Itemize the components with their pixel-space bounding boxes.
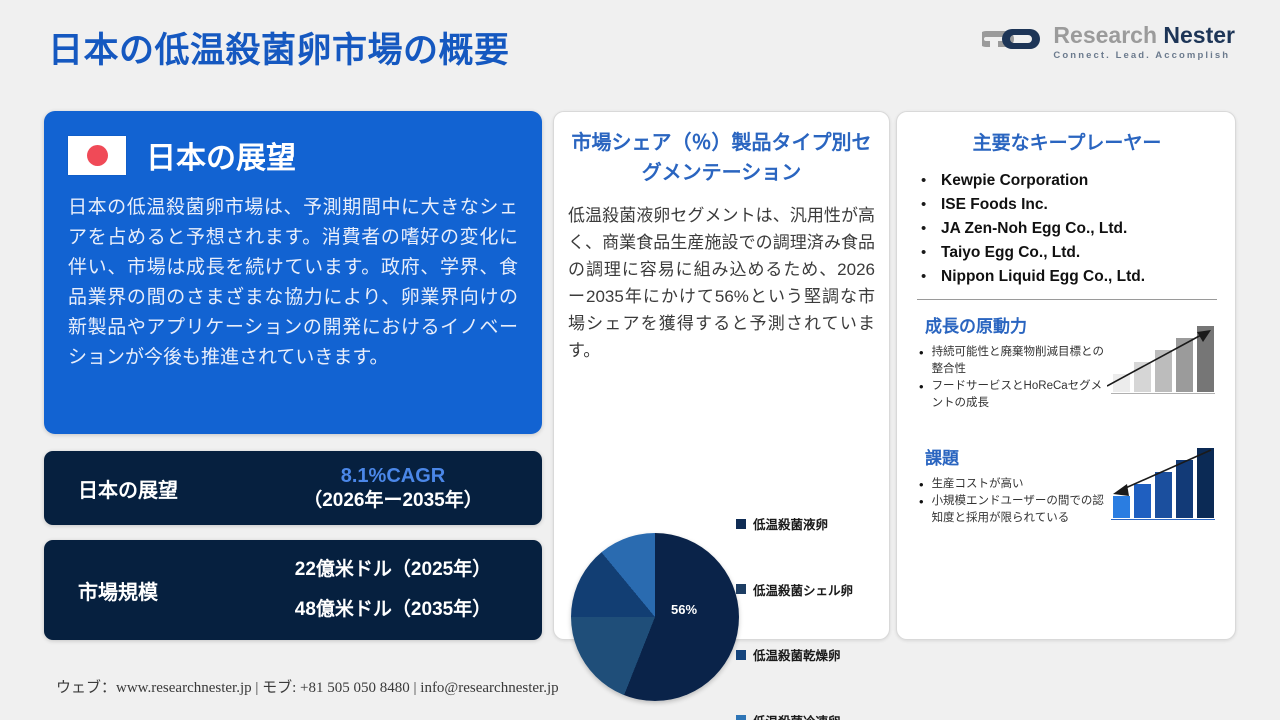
flag-sun-shape: [87, 145, 108, 166]
stat-box-outlook: 日本の展望 8.1%CAGR （2026年ー2035年）: [44, 451, 542, 525]
bullet-icon: •: [919, 476, 924, 493]
logo-tagline: Connect. Lead. Accomplish: [1053, 51, 1235, 61]
stat-values-market-size: 22億米ドル（2025年） 48億米ドル（2035年）: [244, 550, 542, 630]
challenges-bar-chart: [1107, 446, 1219, 526]
pie-data-label-0: 56%: [671, 602, 697, 617]
challenges-list: •生産コストが高い•小規模エンドユーザーの間での認知度と採用が限られている: [919, 476, 1104, 527]
legend-label: 低温殺菌冷凍卵: [753, 711, 841, 720]
logo-text: Research Nester Connect. Lead. Accomplis…: [1053, 24, 1235, 61]
legend-item: 低温殺菌液卵: [736, 514, 881, 533]
list-item: •Taiyo Egg Co., Ltd.: [921, 241, 1221, 265]
player-name: Nippon Liquid Egg Co., Ltd.: [941, 265, 1145, 289]
legend-swatch-icon: [736, 715, 746, 720]
key-players-title: 主要なキープレーヤー: [913, 128, 1221, 155]
growth-bar-chart: [1107, 320, 1219, 400]
up-right-arrow-icon: [1107, 446, 1219, 526]
outlook-card-body: 日本の低温殺菌卵市場は、予測期間中に大きなシェアを占めると予想されます。消費者の…: [68, 193, 518, 373]
legend-item: 低温殺菌冷凍卵: [736, 711, 881, 720]
bullet-icon: •: [921, 265, 931, 289]
legend-swatch-icon: [736, 650, 746, 660]
logo-word-nester: Nester: [1163, 22, 1235, 48]
outlook-card-header: 日本の展望: [68, 133, 518, 177]
list-item: •JA Zen-Noh Egg Co., Ltd.: [921, 217, 1221, 241]
player-name: Kewpie Corporation: [941, 169, 1088, 193]
legend-swatch-icon: [736, 519, 746, 529]
player-name: ISE Foods Inc.: [941, 193, 1048, 217]
page-title: 日本の低温殺菌卵市場の概要: [48, 22, 510, 73]
list-item-text: 生産コストが高い: [932, 476, 1024, 493]
bullet-icon: •: [919, 378, 924, 395]
page-header: 日本の低温殺菌卵市場の概要 Research Nester Connect. L…: [0, 0, 1280, 96]
list-item: •Kewpie Corporation: [921, 169, 1221, 193]
stat-label-market-size: 市場規模: [44, 576, 244, 605]
footer-contact: ウェブ：www.researchnester.jp | モブ: +81 505 …: [56, 676, 559, 697]
stat-values-outlook: 8.1%CAGR （2026年ー2035年）: [244, 464, 542, 513]
outlook-card-title: 日本の展望: [146, 133, 296, 177]
player-name: Taiyo Egg Co., Ltd.: [941, 241, 1080, 265]
bullet-icon: •: [921, 193, 931, 217]
logo-title: Research Nester: [1053, 24, 1235, 47]
up-right-arrow-icon: [1107, 320, 1219, 400]
key-players-list: •Kewpie Corporation•ISE Foods Inc.•JA Ze…: [921, 169, 1221, 289]
segmentation-card-body: 低温殺菌液卵セグメントは、汎用性が高く、商業食品生産施設での調理済み食品の調理に…: [568, 202, 875, 364]
stat-label-outlook: 日本の展望: [44, 474, 244, 503]
japan-outlook-card: 日本の展望 日本の低温殺菌卵市場は、予測期間中に大きなシェアを占めると予想されま…: [44, 111, 542, 434]
legend-swatch-icon: [736, 584, 746, 594]
list-item: •小規模エンドユーザーの間での認知度と採用が限られている: [919, 493, 1104, 527]
list-item: •Nippon Liquid Egg Co., Ltd.: [921, 265, 1221, 289]
logo-mark-icon: [982, 25, 1044, 59]
brand-logo: Research Nester Connect. Lead. Accomplis…: [982, 24, 1235, 61]
key-players-card: 主要なキープレーヤー •Kewpie Corporation•ISE Foods…: [896, 111, 1236, 640]
legend-label: 低温殺菌シェル卵: [753, 580, 853, 599]
cagr-value: 8.1%CAGR: [244, 464, 542, 488]
section-divider: [917, 299, 1217, 300]
legend-item: 低温殺菌乾燥卵: [736, 645, 881, 664]
bullet-icon: •: [921, 241, 931, 265]
pie-shape: [571, 533, 739, 701]
market-size-2035: 48億米ドル（2035年）: [244, 590, 542, 630]
market-share-pie-chart: 56% 低温殺菌液卵低温殺菌シェル卵低温殺菌乾燥卵低温殺菌冷凍卵: [568, 514, 877, 720]
legend-label: 低温殺菌液卵: [753, 514, 828, 533]
legend-item: 低温殺菌シェル卵: [736, 580, 881, 599]
segmentation-card-title: 市場シェア（％）製品タイプ別セグメンテーション: [568, 128, 875, 188]
list-item-text: フードサービスとHoReCaセグメントの成長: [932, 378, 1104, 412]
pie-legend: 低温殺菌液卵低温殺菌シェル卵低温殺菌乾燥卵低温殺菌冷凍卵: [736, 514, 881, 720]
logo-word-research: Research: [1053, 22, 1157, 48]
growth-drivers-list: •持続可能性と廃棄物削減目標との整合性•フードサービスとHoReCaセグメントの…: [919, 344, 1104, 412]
legend-label: 低温殺菌乾燥卵: [753, 645, 841, 664]
market-size-2025: 22億米ドル（2025年）: [244, 550, 542, 590]
growth-drivers-block: 成長の原動力 •持続可能性と廃棄物削減目標との整合性•フードサービスとHoReC…: [913, 312, 1221, 412]
segmentation-card: 市場シェア（％）製品タイプ別セグメンテーション 低温殺菌液卵セグメントは、汎用性…: [553, 111, 890, 640]
list-item: •ISE Foods Inc.: [921, 193, 1221, 217]
list-item: •フードサービスとHoReCaセグメントの成長: [919, 378, 1104, 412]
japan-flag-icon: [68, 136, 126, 175]
list-item-text: 小規模エンドユーザーの間での認知度と採用が限られている: [932, 493, 1104, 527]
stat-box-market-size: 市場規模 22億米ドル（2025年） 48億米ドル（2035年）: [44, 540, 542, 640]
bullet-icon: •: [919, 493, 924, 510]
list-item: •生産コストが高い: [919, 476, 1104, 493]
bullet-icon: •: [921, 169, 931, 193]
player-name: JA Zen-Noh Egg Co., Ltd.: [941, 217, 1127, 241]
list-item: •持続可能性と廃棄物削減目標との整合性: [919, 344, 1104, 378]
cagr-period: （2026年ー2035年）: [244, 488, 542, 513]
bullet-icon: •: [919, 344, 924, 361]
bullet-icon: •: [921, 217, 931, 241]
infographic-page: 日本の低温殺菌卵市場の概要 Research Nester Connect. L…: [0, 0, 1280, 720]
list-item-text: 持続可能性と廃棄物削減目標との整合性: [932, 344, 1104, 378]
challenges-block: 課題 •生産コストが高い•小規模エンドユーザーの間での認知度と採用が限られている: [913, 444, 1221, 527]
